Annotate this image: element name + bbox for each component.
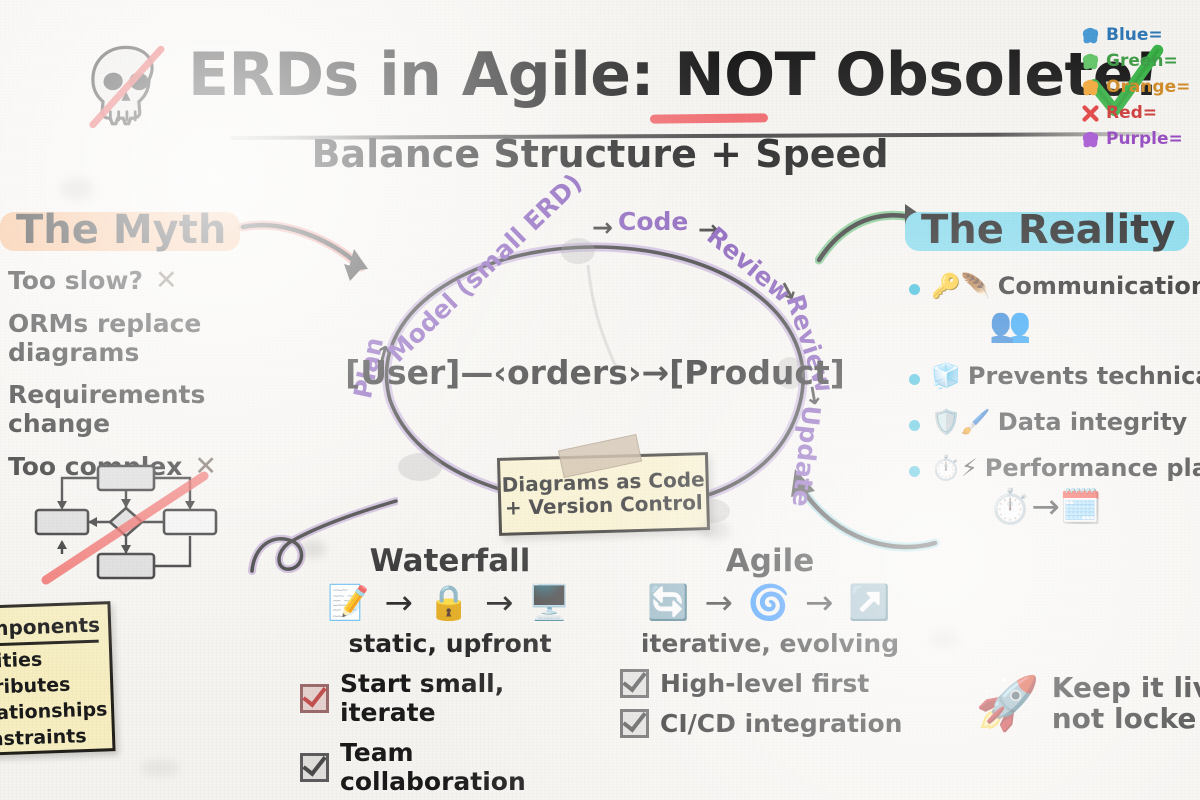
waterfall-check-label: Team collaboration	[340, 738, 600, 796]
waterfall-caption: static, upfront	[300, 629, 600, 658]
components-note-item: Constraints	[0, 725, 102, 752]
myth-item: Requirements change	[8, 380, 310, 438]
agile-column: Agile 🔄 → 🌀 → ↗️ iterative, evolving Hig…	[620, 543, 920, 738]
agile-check-item[interactable]: CI/CD integration	[620, 709, 920, 738]
reality-item: 🛡️🖌️ Data integrity	[905, 407, 1200, 437]
reality-item-label: Data integrity	[998, 407, 1188, 437]
reality-item-label: Communication br	[998, 271, 1200, 301]
bullet-icon	[909, 420, 920, 431]
checkbox-icon[interactable]	[620, 709, 649, 738]
legend-label: Green=	[1106, 51, 1178, 71]
legend-label: Red=	[1106, 103, 1157, 123]
legend-item: Green=	[1082, 48, 1200, 74]
myth-heading-label: The Myth	[16, 207, 226, 253]
legend-label: Orange=	[1106, 77, 1190, 97]
rocket-line-2: not locke	[1052, 702, 1197, 735]
cycle-step-code: Code	[618, 207, 688, 236]
cycle-arrow-2: →	[592, 213, 613, 242]
green-swatch-icon	[1082, 53, 1099, 70]
reality-item: ⏱️⚡ Performance plar	[905, 453, 1200, 483]
legend-item: Purple=	[1082, 126, 1200, 152]
key-feather-icon: 🔑🪶	[931, 271, 991, 301]
components-note-title: Components	[0, 613, 99, 648]
agile-caption: iterative, evolving	[620, 629, 920, 658]
myth-item: ORMs replace diagrams	[8, 309, 310, 367]
agile-title: Agile	[620, 543, 920, 579]
legend-label: Blue=	[1106, 25, 1163, 45]
myth-item-label: ORMs replace diagrams	[8, 309, 310, 367]
smudge	[300, 540, 326, 558]
smudge	[60, 178, 94, 200]
components-note-item: Entities	[0, 647, 100, 674]
not-underline	[650, 113, 768, 123]
bullet-icon	[909, 466, 920, 477]
x-mark-icon: ✕	[155, 265, 178, 296]
checkbox-icon[interactable]	[300, 684, 329, 713]
whiteboard-infographic: ERDs in Agile: NOT Obsolete! Balance Str…	[0, 0, 1200, 800]
reality-item-label: Performance plar	[985, 453, 1200, 483]
title-row: ERDs in Agile: NOT Obsolete!	[60, 22, 1140, 132]
color-legend: Blue= Green= Orange= Red= Purple=	[1082, 22, 1200, 152]
waterfall-column: Waterfall 📝 → 🔒 → 🖥️ static, upfront Sta…	[300, 543, 600, 796]
legend-item: Blue=	[1082, 22, 1200, 48]
rocket-text: Keep it liv not locke	[1052, 672, 1200, 735]
subtitle: Balance Structure + Speed	[0, 132, 1200, 176]
smudge	[140, 760, 180, 776]
purple-swatch-icon	[1082, 131, 1099, 148]
legend-item: Red=	[1082, 100, 1200, 126]
components-note-item: Attributes	[0, 673, 101, 700]
myth-heading: The Myth	[0, 205, 240, 255]
crossed-out-flowchart-icon	[26, 458, 226, 588]
page-title: ERDs in Agile: NOT Obsolete!	[188, 40, 1160, 110]
rocket-line-1: Keep it liv	[1052, 671, 1200, 704]
rocket-callout: 🚀 Keep it liv not locke	[975, 672, 1200, 735]
smudge	[700, 520, 730, 540]
checkbox-icon[interactable]	[300, 753, 329, 782]
bullet-icon	[909, 374, 920, 385]
checkbox-icon[interactable]	[620, 669, 649, 698]
reality-item: 🔑🪶 Communication br	[905, 271, 1200, 301]
waterfall-icons: 📝 → 🔒 → 🖥️	[300, 583, 600, 623]
reality-section: The Reality 🔑🪶 Communication br 👥 🧊 Prev…	[905, 205, 1200, 527]
agile-check-label: CI/CD integration	[660, 709, 902, 738]
myth-item-label: Too slow?	[8, 266, 143, 295]
legend-label: Purple=	[1106, 129, 1183, 149]
agile-check-item[interactable]: High-level first	[620, 669, 920, 698]
gauge-lightning-icon: ⏱️⚡	[931, 453, 978, 483]
legend-item: Orange=	[1082, 74, 1200, 100]
orange-swatch-icon	[1082, 79, 1099, 96]
erd-expression: [User]—‹orders›→[Product]	[330, 353, 860, 392]
reality-item-label: Prevents technica	[968, 361, 1200, 391]
smudge	[930, 630, 958, 648]
agile-icons: 🔄 → 🌀 → ↗️	[620, 583, 920, 623]
stone-block-icon: 🧊	[931, 361, 961, 391]
blue-swatch-icon	[1082, 27, 1099, 44]
agile-check-label: High-level first	[660, 669, 869, 698]
gauge-to-table-icon: ⏱️→🗓️	[989, 487, 1200, 527]
waterfall-check-label: Start small, iterate	[340, 669, 600, 727]
dac-note-line-2: + Version Control	[505, 491, 703, 519]
myth-item-label: Requirements change	[8, 380, 310, 438]
shield-database-icon: 🛡️🖌️	[931, 407, 991, 437]
waterfall-title: Waterfall	[300, 543, 600, 579]
components-note-item: Relationships	[0, 699, 101, 726]
red-x-icon	[1082, 105, 1099, 122]
team-collaboration-icon: 👥	[989, 305, 1200, 345]
skull-icon	[80, 40, 172, 132]
waterfall-check-item[interactable]: Team collaboration	[300, 738, 600, 796]
waterfall-check-item[interactable]: Start small, iterate	[300, 669, 600, 727]
rocket-icon: 🚀	[975, 673, 1040, 734]
reality-heading: The Reality	[905, 205, 1189, 255]
reality-item: 🧊 Prevents technica	[905, 361, 1200, 391]
reality-heading-label: The Reality	[921, 207, 1175, 253]
waterfall-agile-comparison: Waterfall 📝 → 🔒 → 🖥️ static, upfront Sta…	[300, 543, 920, 793]
myth-list: Too slow? ✕ ORMs replace diagrams Requir…	[0, 265, 310, 482]
bullet-icon	[909, 284, 920, 295]
components-sticky-note: Components Entities Attributes Relations…	[0, 601, 116, 757]
